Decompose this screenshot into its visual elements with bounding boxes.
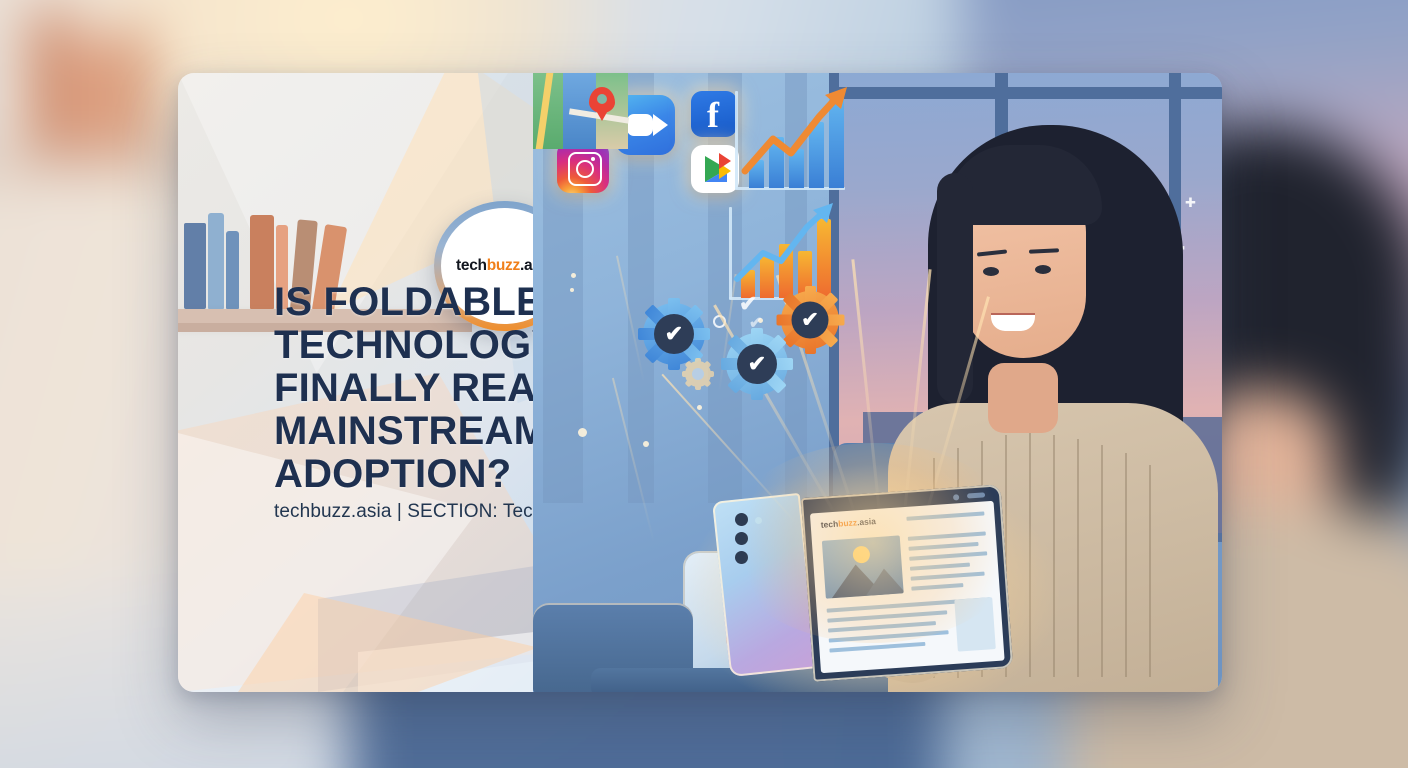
window-mullion-horizontal — [833, 87, 1222, 99]
backdrop-book — [115, 30, 149, 152]
book — [208, 213, 224, 309]
glow-dot — [643, 441, 649, 447]
woman-neck — [988, 363, 1058, 433]
glow-dot — [578, 428, 587, 437]
woman-eye — [983, 267, 999, 276]
map-pin-icon — [589, 87, 615, 113]
facebook-f-glyph: f — [707, 95, 719, 135]
gear-outline-small-icon — [685, 361, 711, 387]
article-cover-card: techbuzz.asia IS FOLDABLE TECHNOLOGY FIN… — [178, 73, 1222, 692]
sweater-knit-line — [1077, 439, 1079, 677]
book — [250, 215, 274, 309]
book — [226, 231, 239, 309]
map-pin-center — [597, 94, 607, 104]
gear-checkmark: ✔ — [801, 308, 819, 333]
chart-trend-arrow-orange — [729, 87, 849, 202]
instagram-circle — [576, 160, 594, 178]
gear-check-orange-icon[interactable]: ✔ — [781, 291, 839, 349]
zoom-camera-body — [627, 114, 653, 136]
glow-dot — [570, 288, 574, 292]
woman-smile — [991, 313, 1035, 331]
subtitle-source-section: techbuzz.asia | SECTION: Tech — [274, 501, 543, 523]
gear-checkmark: ✔ — [748, 351, 766, 377]
zoom-camera-lens — [653, 114, 668, 136]
backdrop-book — [76, 41, 108, 152]
illustration-scene: ✚ ✚ — [533, 73, 1222, 692]
gear-checkmark: ✔ — [665, 321, 683, 347]
checkmark-icon: ✔ — [749, 313, 762, 333]
sweater-knit-line — [1149, 465, 1151, 677]
backdrop-book — [32, 11, 70, 152]
sparkle-icon: ✚ — [1185, 195, 1196, 211]
glow-dot — [571, 273, 576, 278]
woman-eye — [1035, 265, 1051, 274]
instagram-dot — [591, 157, 595, 161]
gear-check-blue-icon[interactable]: ✔ — [643, 303, 705, 365]
screenshot-stage: techbuzz.asia IS FOLDABLE TECHNOLOGY FIN… — [0, 0, 1408, 768]
logo-buzz: buzz — [487, 257, 520, 274]
sweater-knit-line — [1125, 453, 1127, 677]
glow-dot — [697, 405, 702, 410]
growth-chart-blue — [729, 87, 849, 202]
gear-check-lightblue-icon[interactable]: ✔ — [726, 333, 788, 395]
gear-core — [692, 368, 704, 380]
phone-text-line — [829, 642, 925, 653]
logo-tech: tech — [456, 257, 487, 274]
sweater-knit-line — [1101, 445, 1103, 677]
google-maps-icon[interactable] — [533, 73, 628, 149]
book — [184, 223, 206, 309]
